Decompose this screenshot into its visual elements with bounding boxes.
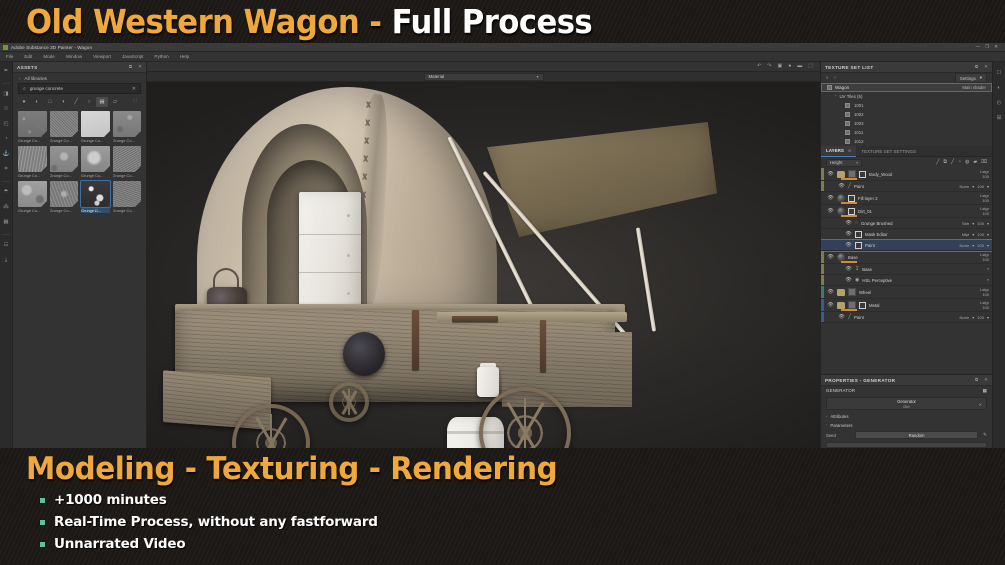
smart-material-icon[interactable]: ▦ bbox=[2, 219, 10, 227]
layer-opacity-bar bbox=[841, 309, 857, 311]
layer-mask-icon[interactable] bbox=[848, 195, 855, 202]
layer-blend-opacity[interactable]: Lstgr 100 bbox=[980, 193, 989, 203]
assets-panel: ASSETS ⧉ ✕ ‹ All libraries ⌕ grunge conc… bbox=[13, 62, 147, 448]
bullet-list: +1000 minutes Real-Time Process, without… bbox=[26, 492, 1005, 552]
3d-viewport[interactable] bbox=[147, 82, 820, 448]
seed-random-label: Random bbox=[909, 433, 925, 438]
bake-icon[interactable]: ☷ bbox=[2, 242, 10, 250]
layer-thumbnail[interactable] bbox=[848, 288, 856, 296]
application-window: Adobe Substance 3D Painter - Wagon — ❐ ✕… bbox=[0, 43, 1005, 448]
layer-thumbnail[interactable] bbox=[837, 194, 845, 202]
layer-name: Grunge Brushed bbox=[861, 221, 893, 226]
generator-effect-icon: ◌ bbox=[855, 221, 858, 226]
folder-icon bbox=[837, 289, 845, 296]
texture-set-list-header-buttons[interactable]: ⧉ ✕ bbox=[975, 65, 988, 70]
table-row[interactable]: 👁 Base Lstgr 100 bbox=[821, 251, 992, 264]
bullet-square-icon bbox=[40, 542, 45, 547]
layer-name: Wheel bbox=[859, 290, 871, 295]
filter-smart-material-icon[interactable]: □ bbox=[44, 97, 56, 107]
layer-visibility-icon[interactable]: 👁 bbox=[838, 314, 845, 320]
attributes-label: Attributes bbox=[830, 414, 848, 419]
parameters-label: Parameters bbox=[830, 423, 852, 428]
wagon-metal-strap-2 bbox=[452, 316, 498, 322]
asset-label: Grunge D... bbox=[81, 208, 110, 213]
uv-tile-label: 1001 bbox=[854, 103, 864, 108]
chevron-down-icon: ▾ bbox=[856, 161, 858, 165]
asset-thumbnail[interactable]: Grunge Co... bbox=[113, 111, 142, 143]
asset-label: Grunge Co... bbox=[18, 173, 47, 178]
assets-float-icon[interactable]: ⧉ bbox=[129, 65, 132, 70]
camera-icon[interactable]: ▬ bbox=[797, 64, 802, 69]
tab-layers-close-icon[interactable]: ✕ bbox=[848, 148, 852, 153]
layer-visibility-icon[interactable]: 👁 bbox=[827, 171, 834, 177]
paint-brush-icon[interactable]: ✒ bbox=[2, 68, 10, 76]
paint-layer-icon bbox=[855, 242, 862, 249]
layer-blend-opacity[interactable]: Lstgr 100 bbox=[980, 206, 989, 216]
asset-thumbnail[interactable]: Grunge Co... bbox=[18, 181, 47, 213]
layer-name: Body_Wood bbox=[869, 172, 892, 177]
uv-tiles-chevron-icon: ˇ bbox=[835, 94, 836, 99]
uv-tile-row[interactable]: 1003 bbox=[821, 119, 992, 128]
asset-preview-image bbox=[81, 181, 110, 207]
bottom-info-banner: Modeling - Texturing - Rendering +1000 m… bbox=[0, 448, 1005, 565]
layer-name: HSL Perceptive bbox=[862, 278, 892, 283]
seed-edit-icon[interactable]: ✎ bbox=[983, 432, 987, 438]
bullet-text: Real-Time Process, without any fastforwa… bbox=[54, 514, 378, 530]
asset-thumbnail[interactable]: Grunge Co... bbox=[50, 146, 79, 178]
generator-preset-icon[interactable]: ▦ bbox=[983, 388, 987, 394]
table-row[interactable]: 👁 ╱ Paint Norm ▾ 100 ▾ bbox=[821, 181, 992, 192]
layer-name: Fill layer 2 bbox=[858, 196, 878, 201]
layers-toolbar: Height ▾ ╱ ⧉ ╱ ◔ ◍ ▰ ⌧ bbox=[821, 157, 992, 168]
search-clear-icon[interactable]: ✕ bbox=[132, 86, 136, 92]
table-row[interactable]: 👁 Wheel Lstgr 100 bbox=[821, 286, 992, 299]
asset-thumbnail[interactable]: Grunge Co... bbox=[81, 111, 110, 143]
export-icon[interactable]: ⤓ bbox=[2, 257, 10, 265]
mask-editor-icon bbox=[855, 231, 862, 238]
layer-blend-mode: Norm bbox=[960, 315, 970, 320]
app-logo-icon bbox=[3, 45, 8, 50]
layer-group-color bbox=[821, 251, 824, 263]
layer-group-color bbox=[821, 192, 824, 204]
smudge-icon[interactable]: ◔ bbox=[2, 136, 10, 144]
wagon-wheel-small bbox=[329, 382, 369, 422]
material-mode-select[interactable]: Material ▾ bbox=[424, 73, 544, 81]
layer-thumbnail[interactable] bbox=[837, 207, 845, 215]
layer-opacity-bar bbox=[841, 202, 857, 204]
screenshot-icon[interactable]: ⬚ bbox=[808, 64, 813, 69]
layer-blend-opacity[interactable]: Sbtr ▾ 100 ▾ bbox=[962, 221, 989, 226]
right-panel-column: TEXTURE SET LIST ⧉ ✕ ⌕ ○ Settings ▾ bbox=[820, 62, 992, 448]
uv-tile-row[interactable]: 1002 bbox=[821, 110, 992, 119]
layer-opacity-bar bbox=[841, 178, 857, 180]
breadcrumb-label[interactable]: All libraries bbox=[25, 76, 47, 81]
layer-opacity: 100 bbox=[982, 292, 989, 297]
page-title: Old Western Wagon - Full Process bbox=[26, 5, 592, 38]
uv-tile-icon bbox=[845, 103, 850, 108]
uv-tile-label: 1011 bbox=[854, 130, 863, 135]
uv-tiles-header[interactable]: ˇ UV Tiles (5) bbox=[821, 92, 992, 101]
chevron-down-icon: ▾ bbox=[987, 267, 989, 271]
layer-name: Base bbox=[862, 267, 872, 272]
layer-name: Paint bbox=[854, 184, 864, 189]
folder-icon bbox=[837, 302, 845, 309]
assets-breadcrumb[interactable]: ‹ All libraries bbox=[13, 73, 146, 83]
assets-panel-header: ASSETS ⧉ ✕ bbox=[13, 62, 146, 73]
maximize-button[interactable]: ❐ bbox=[985, 45, 989, 50]
properties-panel-header-buttons[interactable]: ⧉ ✕ bbox=[975, 378, 988, 383]
paint-layer-icon: ╱ bbox=[848, 315, 851, 320]
filter-all-icon[interactable]: ● bbox=[18, 97, 30, 107]
add-folder-icon[interactable]: ▰ bbox=[973, 160, 977, 165]
texture-set-list-panel: TEXTURE SET LIST ⧉ ✕ ⌕ ○ Settings ▾ bbox=[821, 62, 992, 146]
asset-preview-image bbox=[81, 146, 110, 172]
add-paint-layer-icon[interactable]: ╱ bbox=[951, 160, 954, 165]
shader-settings-icon[interactable]: ◐ bbox=[995, 85, 1003, 93]
texture-set-search-icon[interactable]: ⌕ bbox=[826, 76, 829, 81]
layer-visibility-icon[interactable]: 👁 bbox=[845, 231, 852, 237]
chevron-down-icon-2: ▾ bbox=[987, 315, 989, 320]
chevron-down-icon: ▾ bbox=[972, 315, 974, 320]
layer-blend-opacity[interactable]: Lstgr 100 bbox=[980, 300, 989, 310]
attributes-section[interactable]: › Attributes bbox=[821, 412, 992, 421]
add-effect-icon[interactable]: ╱ bbox=[936, 160, 939, 165]
layer-opacity: 100 bbox=[977, 184, 984, 189]
asset-preview-image bbox=[113, 146, 142, 172]
texture-set-icon bbox=[827, 85, 832, 90]
layer-group-color bbox=[821, 181, 824, 191]
asset-label: Grunge Co... bbox=[81, 138, 110, 143]
table-row[interactable]: 👁 ◉ HSL Perceptive ▾ bbox=[821, 275, 992, 286]
history-icon[interactable]: ◴ bbox=[995, 100, 1003, 108]
layer-visibility-icon[interactable]: 👁 bbox=[845, 220, 852, 226]
chevron-down-icon: ▾ bbox=[972, 243, 974, 248]
app-main-area: ✒ ◨ ☉ ◰ ◔ ⚓ ⌗ ☂ ⁂ ▦ ☷ ⤓ ASSETS ⧉ ✕ bbox=[0, 62, 1005, 448]
layer-visibility-icon[interactable]: 👁 bbox=[827, 254, 834, 260]
tab-texture-set-settings-label: TEXTURE SET SETTINGS bbox=[861, 149, 916, 154]
menu-mode[interactable]: Mode bbox=[43, 54, 55, 59]
layer-visibility-icon[interactable]: 👁 bbox=[845, 266, 852, 272]
layer-visibility-icon[interactable]: 👁 bbox=[838, 183, 845, 189]
assets-filter-row: ● ◐ □ ◑ ╱ ○ ▤ ▱ ∷ bbox=[13, 94, 146, 109]
list-item: +1000 minutes bbox=[40, 492, 1005, 508]
wagon-side-awning bbox=[487, 122, 717, 237]
table-row[interactable]: 👁 Fill layer 2 Lstgr 100 bbox=[821, 192, 992, 205]
layer-blend-mode: Sbtr bbox=[962, 221, 969, 226]
minimize-button[interactable]: — bbox=[976, 45, 981, 50]
chevron-down-icon: ▾ bbox=[980, 75, 982, 81]
tab-layers-label: LAYERS bbox=[826, 148, 844, 153]
tool-rail-divider-2 bbox=[2, 181, 10, 182]
delete-layer-icon[interactable]: ⌧ bbox=[981, 160, 987, 165]
layer-thumbnail[interactable] bbox=[848, 301, 856, 309]
texture-set-settings-dropdown[interactable]: Settings ▾ bbox=[955, 73, 987, 83]
menu-file[interactable]: File bbox=[6, 54, 13, 59]
layer-visibility-icon[interactable]: 👁 bbox=[827, 302, 834, 308]
top-title-banner: Old Western Wagon - Full Process bbox=[0, 0, 1005, 43]
layer-opacity: 100 bbox=[977, 232, 984, 237]
redo-icon[interactable]: ↷ bbox=[767, 64, 771, 69]
list-item: Real-Time Process, without any fastforwa… bbox=[40, 514, 1005, 530]
asset-preview-image bbox=[18, 111, 47, 137]
search-icon: ⌕ bbox=[23, 86, 26, 92]
channel-select[interactable]: Height ▾ bbox=[826, 159, 862, 167]
chevron-down-icon-2: ▾ bbox=[987, 221, 989, 226]
uv-tile-label: 1002 bbox=[854, 112, 864, 117]
asset-thumbnail[interactable]: Grunge Co... bbox=[113, 181, 142, 213]
eraser-icon[interactable]: ◨ bbox=[2, 91, 10, 99]
close-button[interactable]: ✕ bbox=[994, 45, 998, 50]
seed-random-button[interactable]: Random bbox=[855, 431, 978, 439]
uv-tile-row[interactable]: 1001 bbox=[821, 101, 992, 110]
layer-visibility-icon[interactable]: 👁 bbox=[827, 208, 834, 214]
layer-opacity-bar bbox=[841, 261, 857, 263]
plugins-icon[interactable]: ⊞ bbox=[995, 115, 1003, 123]
generator-slot-value: Dirt bbox=[903, 404, 909, 409]
layers-toolbar-icons: ╱ ⧉ ╱ ◔ ◍ ▰ ⌧ bbox=[936, 160, 987, 165]
layer-blend-opacity[interactable]: Norm ▾ 100 ▾ bbox=[960, 243, 990, 248]
uv-tile-icon bbox=[845, 121, 850, 126]
layer-group-color bbox=[821, 286, 824, 298]
table-row[interactable]: 👁 Mask Editor Mtpl ▾ 100 ▾ bbox=[821, 229, 992, 240]
layer-name: Paint bbox=[854, 315, 864, 320]
title-part-primary: Old Western Wagon bbox=[26, 2, 359, 41]
layer-name: Mask Editor bbox=[865, 232, 888, 237]
add-mask-icon[interactable]: ◔ bbox=[958, 160, 961, 165]
uv-tile-icon bbox=[845, 130, 850, 135]
solo-channel-icon[interactable]: ▣ bbox=[778, 64, 783, 69]
layer-thumbnail[interactable] bbox=[848, 170, 856, 178]
layer-mask-icon[interactable] bbox=[859, 302, 866, 309]
material-picker-icon[interactable]: ⌗ bbox=[2, 166, 10, 174]
paint-layer-icon: ╱ bbox=[848, 184, 851, 189]
search-input[interactable]: grunge concrete bbox=[30, 86, 128, 91]
uv-tile-icon bbox=[845, 112, 850, 117]
title-part-secondary: Full Process bbox=[392, 2, 593, 41]
seed-label: Seed bbox=[826, 433, 850, 438]
table-row[interactable]: 👁 ╱ Paint Norm ▾ 100 ▾ bbox=[821, 312, 992, 323]
asset-thumbnail[interactable]: Grunge Co... bbox=[81, 146, 110, 178]
asset-preview-image bbox=[50, 146, 79, 172]
asset-thumbnail[interactable]: Grunge Co... bbox=[113, 146, 142, 178]
generator-section-label: GENERATOR bbox=[826, 388, 855, 393]
layer-opacity: 100 bbox=[982, 305, 989, 310]
asset-preview-image bbox=[18, 146, 47, 172]
chevron-down-icon-2: ▾ bbox=[987, 232, 989, 237]
properties-panel-title: PROPERTIES - GENERATOR bbox=[825, 378, 895, 383]
table-row[interactable]: 👁 ◌ Grunge Brushed Sbtr ▾ 100 ▾ bbox=[821, 218, 992, 229]
bullet-square-icon bbox=[40, 498, 45, 503]
folder-icon bbox=[837, 171, 845, 178]
uv-tile-label: 1012 bbox=[854, 139, 864, 144]
add-smart-mask-icon[interactable]: ◍ bbox=[965, 160, 969, 165]
chevron-down-icon: ▾ bbox=[972, 221, 974, 226]
layer-mask-icon[interactable] bbox=[848, 208, 855, 215]
menu-help[interactable]: Help bbox=[180, 54, 189, 59]
table-row[interactable]: 👁 Dirt_01 Lstgr 100 bbox=[821, 205, 992, 218]
white-jug bbox=[477, 367, 499, 397]
texture-set-toolbar: ⌕ ○ Settings ▾ bbox=[821, 73, 992, 83]
app-title-bar: Adobe Substance 3D Painter - Wagon — ❐ ✕ bbox=[0, 43, 1005, 52]
layer-mask-icon[interactable] bbox=[859, 171, 866, 178]
asset-label: Grunge Co... bbox=[113, 173, 142, 178]
awning-support-pole-3 bbox=[636, 227, 656, 331]
filter-brush-icon[interactable]: ╱ bbox=[70, 97, 82, 107]
left-tool-rail: ✒ ◨ ☉ ◰ ◔ ⚓ ⌗ ☂ ⁂ ▦ ☷ ⤓ bbox=[0, 62, 13, 448]
properties-panel-header: PROPERTIES - GENERATOR ⧉ ✕ bbox=[821, 375, 992, 386]
filter-mask-icon[interactable]: ◑ bbox=[57, 97, 69, 107]
breadcrumb-back-icon[interactable]: ‹ bbox=[19, 76, 21, 81]
seed-parameter-row: Seed Random ✎ bbox=[821, 430, 992, 440]
menu-window[interactable]: Window bbox=[66, 54, 82, 59]
add-fill-layer-icon[interactable]: ⧉ bbox=[943, 160, 947, 165]
layer-thumbnail[interactable] bbox=[837, 253, 845, 261]
expand-triangle-icon: › bbox=[826, 414, 827, 419]
generator-clear-icon[interactable]: ✕ bbox=[979, 402, 982, 407]
layer-blend-opacity[interactable]: Lstgr 100 bbox=[980, 252, 989, 262]
layer-visibility-icon[interactable]: 👁 bbox=[845, 242, 852, 248]
uv-tile-row[interactable]: 1011 bbox=[821, 128, 992, 137]
asset-label: Grunge Co... bbox=[18, 208, 47, 213]
layer-blend-opacity[interactable]: Lstgr 100 bbox=[980, 169, 989, 179]
uv-tile-icon bbox=[845, 139, 850, 144]
texture-set-close-icon[interactable]: ✕ bbox=[984, 65, 988, 70]
assets-thumbnail-grid: Grunge Co... Grunge Co... Grunge Co... G… bbox=[13, 109, 146, 217]
texture-set-filter-icon[interactable]: ○ bbox=[834, 76, 837, 81]
asset-label: Grunge Co... bbox=[113, 208, 142, 213]
properties-float-icon[interactable]: ⧉ bbox=[975, 378, 978, 383]
layer-blend-mode: Norm bbox=[960, 243, 970, 248]
texture-set-list-title: TEXTURE SET LIST bbox=[825, 65, 873, 70]
texture-set-row-wagon[interactable]: Wagon Main shader bbox=[821, 83, 992, 92]
subtitle: Modeling - Texturing - Rendering bbox=[26, 453, 956, 486]
physical-paint-icon[interactable]: ☂ bbox=[2, 189, 10, 197]
geometry-fill-icon[interactable]: ◰ bbox=[2, 121, 10, 129]
parameters-section[interactable]: ˇ Parameters bbox=[821, 421, 992, 430]
layer-visibility-icon[interactable]: 👁 bbox=[827, 289, 834, 295]
asset-preview-image bbox=[50, 111, 79, 137]
properties-panel: PROPERTIES - GENERATOR ⧉ ✕ GENERATOR ▦ G… bbox=[821, 374, 992, 448]
generator-slot[interactable]: Generator Dirt ✕ bbox=[826, 397, 987, 410]
undo-icon[interactable]: ↶ bbox=[757, 64, 761, 69]
chevron-down-icon: ▾ bbox=[536, 74, 538, 79]
material-mode-value: Material bbox=[429, 74, 445, 79]
texture-set-float-icon[interactable]: ⧉ bbox=[975, 65, 978, 70]
tab-layers[interactable]: LAYERS ✕ bbox=[821, 146, 856, 157]
tool-rail-divider bbox=[2, 83, 10, 84]
filter-material-icon[interactable]: ◐ bbox=[31, 97, 43, 107]
asset-thumbnail[interactable]: Grunge Co... bbox=[50, 181, 79, 213]
title-dash: - bbox=[359, 2, 391, 41]
clone-stamp-icon[interactable]: ⚓ bbox=[2, 151, 10, 159]
right-tool-rail: ☐ ◐ ◴ ⊞ bbox=[992, 62, 1005, 448]
chevron-down-icon-2: ▾ bbox=[987, 243, 989, 248]
layer-name: Base bbox=[848, 255, 858, 260]
filter-environment-icon[interactable]: ▱ bbox=[109, 97, 121, 107]
assets-close-icon[interactable]: ✕ bbox=[138, 65, 142, 70]
layer-visibility-icon[interactable]: 👁 bbox=[827, 195, 834, 201]
layer-opacity: 100 bbox=[977, 315, 984, 320]
app-window-title: Adobe Substance 3D Painter - Wagon bbox=[11, 45, 92, 50]
table-row[interactable]: 👁 Body_Wood Lstgr 100 bbox=[821, 168, 992, 181]
layer-opacity: 100 bbox=[982, 174, 989, 179]
layer-opacity: 100 bbox=[977, 243, 984, 248]
grid-view-toggle-icon[interactable]: ∷ bbox=[129, 97, 141, 107]
layer-blend-opacity[interactable]: Norm ▾ 100 ▾ bbox=[960, 184, 990, 189]
texture-set-name: Wagon bbox=[835, 85, 849, 90]
asset-thumbnail[interactable]: Grunge Co... bbox=[18, 146, 47, 178]
layer-visibility-icon[interactable]: 👁 bbox=[845, 277, 852, 283]
tab-texture-set-settings[interactable]: TEXTURE SET SETTINGS bbox=[856, 146, 921, 157]
filter-texture-icon[interactable]: ▤ bbox=[96, 97, 108, 107]
wagon-spare-dark-wheel bbox=[343, 332, 385, 376]
particle-icon[interactable]: ⁂ bbox=[2, 204, 10, 212]
layer-blend-opacity[interactable]: Norm ▾ 100 ▾ bbox=[960, 315, 990, 320]
menu-viewport[interactable]: Viewport bbox=[93, 54, 111, 59]
asset-preview-image bbox=[113, 181, 142, 207]
layer-group-color bbox=[821, 264, 824, 274]
layer-opacity: 100 bbox=[977, 221, 984, 226]
display-settings-icon[interactable]: ☐ bbox=[995, 70, 1003, 78]
asset-thumbnail[interactable]: Grunge Co... bbox=[50, 111, 79, 143]
asset-thumbnail[interactable]: Grunge Co... bbox=[18, 111, 47, 143]
menu-javascript[interactable]: JavaScript bbox=[122, 54, 143, 59]
layer-group-color bbox=[821, 299, 824, 311]
bullet-square-icon bbox=[40, 520, 45, 525]
asset-thumbnail-selected[interactable]: Grunge D... bbox=[81, 181, 110, 213]
filter-particle-icon[interactable]: ○ bbox=[83, 97, 95, 107]
layer-opacity: 100 bbox=[982, 211, 989, 216]
menu-edit[interactable]: Edit bbox=[24, 54, 32, 59]
menu-python[interactable]: Python bbox=[154, 54, 168, 59]
bullet-text: +1000 minutes bbox=[54, 492, 167, 508]
layer-opacity-bar bbox=[841, 215, 857, 217]
viewport-toolbar: ↶ ↷ ▣ ● ▬ ⬚ bbox=[147, 62, 820, 72]
properties-section-header: GENERATOR ▦ bbox=[821, 386, 992, 395]
hsl-filter-icon: ◉ bbox=[855, 278, 859, 283]
layer-name: Metal bbox=[869, 303, 880, 308]
viewport-container: ↶ ↷ ▣ ● ▬ ⬚ Material ▾ bbox=[147, 62, 820, 448]
table-row-selected[interactable]: 👁 Paint Norm ▾ 100 ▾ bbox=[821, 240, 992, 251]
list-item: Unnarrated Video bbox=[40, 536, 1005, 552]
viewport-sub-toolbar: Material ▾ bbox=[147, 72, 820, 82]
assets-panel-header-buttons[interactable]: ⧉ ✕ bbox=[129, 65, 142, 70]
chevron-down-icon: ▾ bbox=[972, 184, 974, 189]
layer-group-color bbox=[821, 168, 824, 180]
properties-close-icon[interactable]: ✕ bbox=[984, 378, 988, 383]
asset-label: Grunge Co... bbox=[81, 173, 110, 178]
asset-preview-image bbox=[81, 111, 110, 137]
assets-search-row[interactable]: ⌕ grunge concrete ✕ bbox=[18, 83, 141, 94]
layer-blend-opacity[interactable]: Lstgr 100 bbox=[980, 287, 989, 297]
uv-tile-label: 1003 bbox=[854, 121, 864, 126]
asset-label: Grunge Co... bbox=[113, 138, 142, 143]
layer-blend-mode: Norm bbox=[960, 184, 970, 189]
layer-opacity: 100 bbox=[982, 257, 989, 262]
layer-blend-opacity[interactable]: Mtpl ▾ 100 ▾ bbox=[962, 232, 989, 237]
asset-label: Grunge Co... bbox=[18, 138, 47, 143]
asset-preview-image bbox=[113, 111, 142, 137]
layer-blend-mode: Mtpl bbox=[962, 232, 970, 237]
table-row[interactable]: 👁 Metal Lstgr 100 bbox=[821, 299, 992, 312]
lighting-icon[interactable]: ● bbox=[788, 64, 791, 69]
window-controls[interactable]: — ❐ ✕ bbox=[976, 45, 1002, 50]
asset-preview-image bbox=[18, 181, 47, 207]
projection-icon[interactable]: ☉ bbox=[2, 106, 10, 114]
channel-select-value: Height bbox=[830, 160, 842, 165]
table-row[interactable]: 👁 ↧ Base ▾ bbox=[821, 264, 992, 275]
layer-opacity: 100 bbox=[982, 198, 989, 203]
